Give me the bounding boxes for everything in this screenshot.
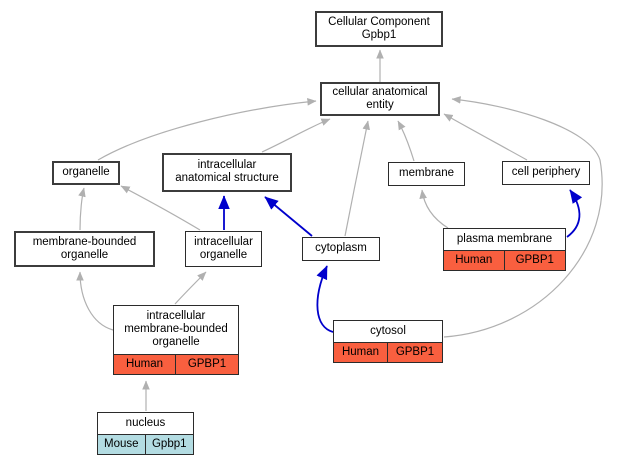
graph-edge	[80, 272, 113, 330]
graph-node-intracellular-membrane-bounded-organelle[interactable]: intracellular membrane-bounded organelle…	[113, 305, 239, 375]
node-annotation-row: HumanGPBP1	[334, 342, 442, 362]
node-label: nucleus	[98, 413, 193, 434]
node-label: intracellular anatomical structure	[164, 155, 290, 190]
node-label: intracellular organelle	[186, 232, 261, 266]
node-label: cytosol	[334, 321, 442, 342]
graph-node-cytoplasm[interactable]: cytoplasm	[302, 237, 380, 261]
annotation-species[interactable]: Human	[114, 355, 176, 374]
node-label: membrane-bounded organelle	[16, 233, 153, 265]
annotation-species[interactable]: Human	[444, 251, 505, 270]
annotation-gene[interactable]: Gpbp1	[146, 435, 194, 454]
node-label: Cellular Component Gpbp1	[317, 13, 441, 45]
annotation-gene[interactable]: GPBP1	[176, 355, 238, 374]
graph-edge	[422, 190, 448, 228]
graph-edge	[398, 121, 414, 161]
graph-edge	[567, 190, 579, 237]
graph-edge	[262, 119, 330, 152]
annotation-species[interactable]: Mouse	[98, 435, 146, 454]
node-label: cell periphery	[503, 162, 589, 184]
graph-node-organelle[interactable]: organelle	[52, 161, 120, 185]
graph-edge	[121, 186, 200, 230]
graph-node-cellular-anatomical-entity[interactable]: cellular anatomical entity	[320, 82, 440, 116]
annotation-species[interactable]: Human	[334, 343, 388, 362]
graph-edge	[98, 101, 316, 160]
node-label: organelle	[54, 163, 118, 183]
graph-edge	[265, 197, 312, 236]
graph-node-intracellular-organelle[interactable]: intracellular organelle	[185, 231, 262, 267]
annotation-gene[interactable]: GPBP1	[388, 343, 442, 362]
node-annotation-row: HumanGPBP1	[114, 354, 238, 374]
graph-node-cell-periphery[interactable]: cell periphery	[502, 161, 590, 185]
graph-node-intracellular-anatomical-structure[interactable]: intracellular anatomical structure	[162, 153, 292, 192]
graph-edge	[444, 114, 527, 160]
node-label: cytoplasm	[303, 238, 379, 260]
node-annotation-row: MouseGpbp1	[98, 434, 193, 454]
node-label: cellular anatomical entity	[322, 84, 438, 114]
node-annotation-row: HumanGPBP1	[444, 250, 565, 270]
graph-node-membrane[interactable]: membrane	[388, 162, 465, 186]
graph-node-cellular-component-gpbp1[interactable]: Cellular Component Gpbp1	[315, 11, 443, 47]
graph-edge	[345, 121, 368, 236]
node-label: plasma membrane	[444, 229, 565, 250]
graph-edge	[175, 272, 206, 304]
graph-node-plasma-membrane[interactable]: plasma membraneHumanGPBP1	[443, 228, 566, 271]
node-label: membrane	[389, 163, 464, 185]
annotation-gene[interactable]: GPBP1	[505, 251, 566, 270]
graph-edge	[80, 188, 84, 230]
graph-edge	[444, 99, 602, 337]
go-graph-canvas: Cellular Component Gpbp1cellular anatomi…	[0, 0, 638, 469]
node-label: intracellular membrane-bounded organelle	[114, 306, 238, 354]
graph-node-cytosol[interactable]: cytosolHumanGPBP1	[333, 320, 443, 363]
graph-node-membrane-bounded-organelle[interactable]: membrane-bounded organelle	[14, 231, 155, 267]
graph-node-nucleus[interactable]: nucleusMouseGpbp1	[97, 412, 194, 455]
graph-edge	[317, 266, 333, 332]
